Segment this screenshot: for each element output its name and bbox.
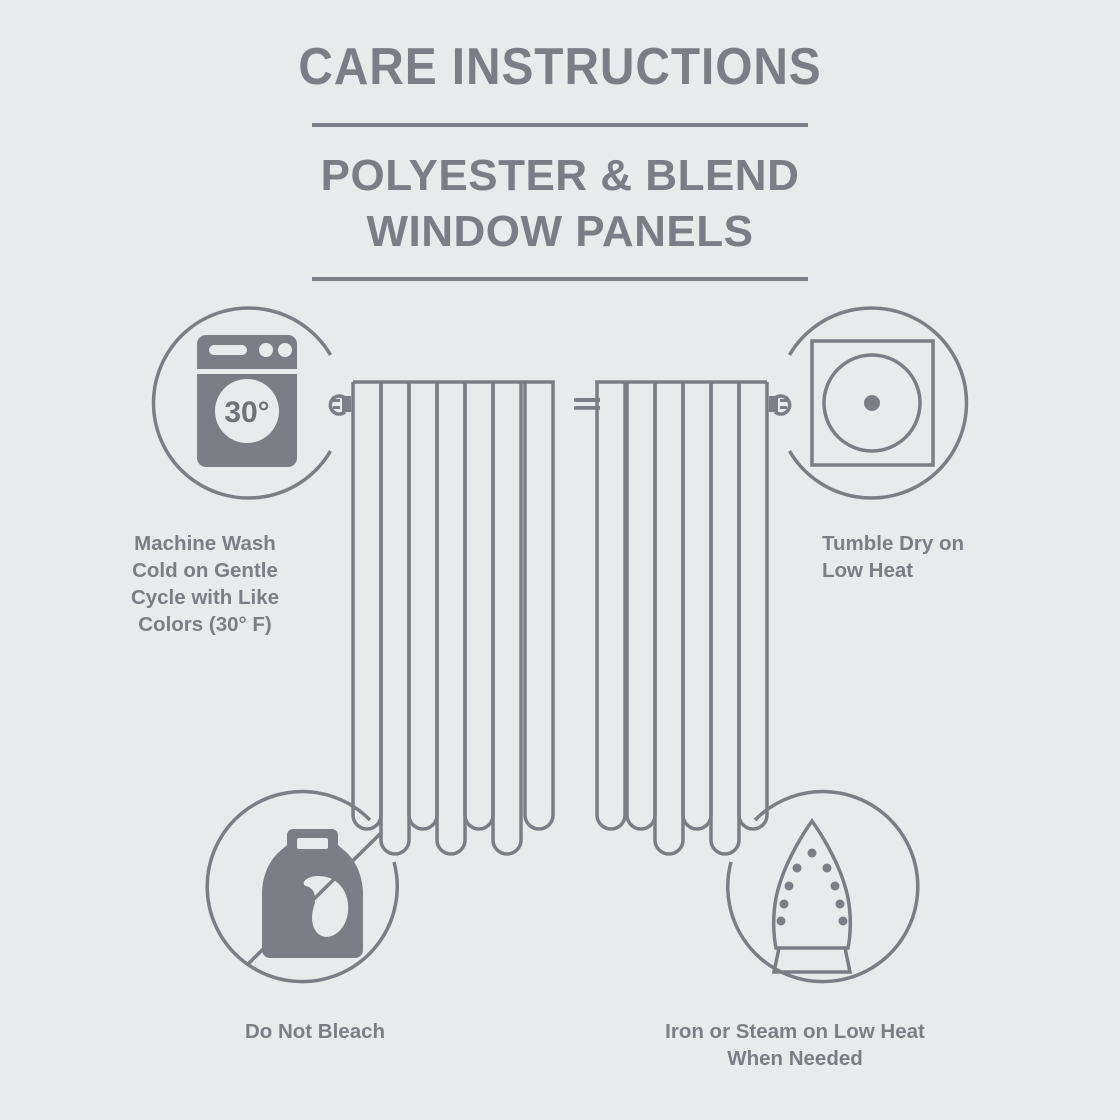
curtain-left-fold-1 [353, 382, 381, 829]
curtain-left-fold-3 [409, 382, 437, 829]
curtain-left-fold-6 [493, 382, 521, 854]
do-not-bleach-icon [247, 829, 382, 965]
caption-line: When Needed [600, 1045, 990, 1072]
caption-iron-steam: Iron or Steam on Low Heat When Needed [600, 1018, 990, 1072]
iron-base [774, 948, 850, 972]
caption-line: Do Not Bleach [155, 1018, 475, 1045]
curtain-right-fold-2 [711, 382, 739, 854]
curtain-right-fold-4 [655, 382, 683, 854]
caption-do-not-bleach: Do Not Bleach [155, 1018, 475, 1045]
curtain-left-fold-2 [381, 382, 409, 854]
wash-temperature-label: 30° [224, 396, 269, 429]
caption-tumble-dry: Tumble Dry on Low Heat [822, 530, 1120, 584]
curtain-right-fold-5 [627, 382, 655, 829]
curtain-left-outline [353, 382, 553, 829]
tumble-dry-icon [812, 341, 933, 465]
care-instructions-infographic: CARE INSTRUCTIONS POLYESTER & BLEND WIND… [0, 0, 1120, 1120]
curtain-rod [330, 396, 789, 414]
curtain-right-fold-3 [683, 382, 711, 829]
caption-line: Machine Wash [60, 530, 350, 557]
caption-line: Tumble Dry on [822, 530, 1120, 557]
curtain-right-fold-1 [739, 382, 767, 829]
bleach-bottle-handle-cutout [297, 838, 328, 849]
iron-circle [728, 792, 918, 982]
curtain-left-fold-4 [437, 382, 465, 854]
caption-line: Iron or Steam on Low Heat [600, 1018, 990, 1045]
caption-line: Cold on Gentle [60, 557, 350, 584]
curtain-panels-illustration [330, 382, 789, 854]
washing-machine-icon: 30° [197, 335, 297, 467]
caption-machine-wash: Machine Wash Cold on Gentle Cycle with L… [60, 530, 350, 638]
caption-line: Low Heat [822, 557, 1120, 584]
iron-icon [774, 821, 851, 972]
caption-line: Colors (30° F) [60, 611, 350, 638]
curtain-left-fold-5 [465, 382, 493, 829]
caption-line: Cycle with Like [60, 584, 350, 611]
